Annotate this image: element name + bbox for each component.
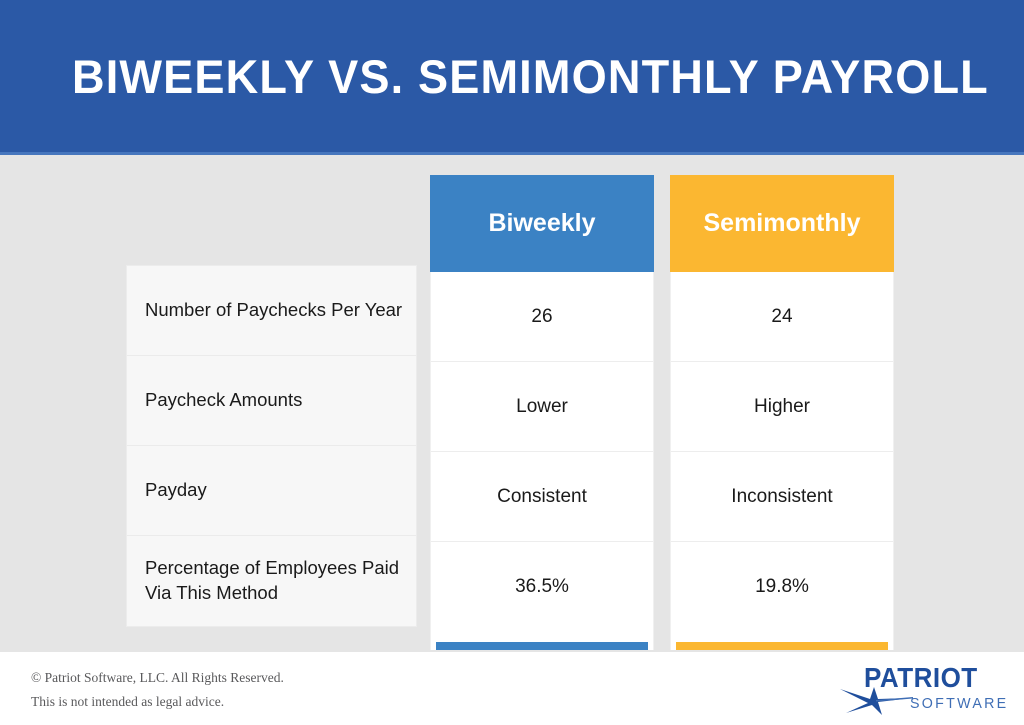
row-label: Paycheck Amounts xyxy=(127,356,416,446)
row-label-text: Payday xyxy=(145,478,207,503)
footer-legal-text: © Patriot Software, LLC. All Rights Rese… xyxy=(31,666,284,713)
column-footer-biweekly xyxy=(430,632,654,650)
star-swoosh-icon xyxy=(838,686,914,716)
table-cell: 26 xyxy=(431,272,653,362)
page-title: BIWEEKLY VS. SEMIMONTHLY PAYROLL xyxy=(72,49,989,104)
accent-bar-semimonthly xyxy=(676,642,888,650)
row-label-text: Number of Paychecks Per Year xyxy=(145,298,402,323)
row-label: Percentage of Employees Paid Via This Me… xyxy=(127,536,416,626)
table-cell: Inconsistent xyxy=(671,452,893,542)
column-body-semimonthly: 24 Higher Inconsistent 19.8% xyxy=(670,272,894,632)
column-body-biweekly: 26 Lower Consistent 36.5% xyxy=(430,272,654,632)
table-cell: 36.5% xyxy=(431,542,653,632)
table-cell: 24 xyxy=(671,272,893,362)
comparison-table: Number of Paychecks Per Year Paycheck Am… xyxy=(0,155,1024,652)
logo-subtitle: SOFTWARE xyxy=(910,695,1008,712)
table-cell: Consistent xyxy=(431,452,653,542)
page-header-banner: BIWEEKLY VS. SEMIMONTHLY PAYROLL xyxy=(0,0,1024,155)
row-label: Payday xyxy=(127,446,416,536)
disclaimer-text: This is not intended as legal advice. xyxy=(31,690,284,714)
column-header-biweekly: Biweekly xyxy=(430,175,654,272)
row-label: Number of Paychecks Per Year xyxy=(127,266,416,356)
accent-bar-biweekly xyxy=(436,642,648,650)
row-label-column: Number of Paychecks Per Year Paycheck Am… xyxy=(126,265,417,627)
row-label-text: Percentage of Employees Paid Via This Me… xyxy=(145,556,416,606)
column-biweekly: Biweekly 26 Lower Consistent 36.5% xyxy=(430,175,654,650)
table-cell: 19.8% xyxy=(671,542,893,632)
copyright-text: © Patriot Software, LLC. All Rights Rese… xyxy=(31,666,284,690)
table-cell: Higher xyxy=(671,362,893,452)
column-header-semimonthly: Semimonthly xyxy=(670,175,894,272)
column-semimonthly: Semimonthly 24 Higher Inconsistent 19.8% xyxy=(670,175,894,650)
column-footer-semimonthly xyxy=(670,632,894,650)
row-label-text: Paycheck Amounts xyxy=(145,388,302,413)
patriot-software-logo: PATRIOT SOFTWARE xyxy=(838,662,998,716)
page-footer: © Patriot Software, LLC. All Rights Rese… xyxy=(0,652,1024,725)
table-cell: Lower xyxy=(431,362,653,452)
